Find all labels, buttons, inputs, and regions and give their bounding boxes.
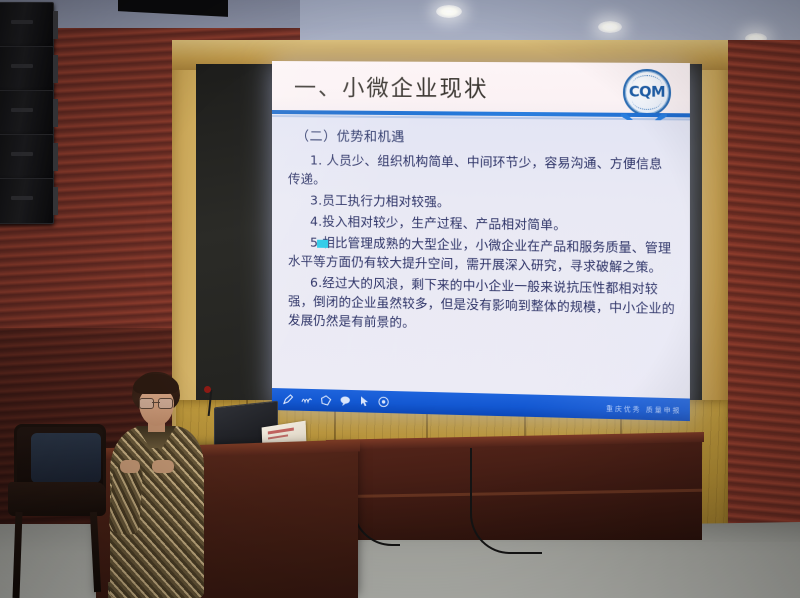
microphone-head-icon: [204, 386, 211, 393]
slide-body: （二）优势和机遇 1. 人员少、组织机构简单、中间环节少，容易沟通、方便信息传递…: [272, 117, 690, 403]
ink-scribble-icon[interactable]: [301, 394, 313, 406]
presenter-hand: [152, 460, 174, 473]
slide-title-band: 一、小微企业现状 CQM: [272, 61, 690, 115]
chair-leg: [90, 512, 101, 592]
slide-paragraph: 6.经过大的风浪，剩下来的中小企业一般来说抗压性都相对较强，倒闭的企业虽然较多，…: [288, 272, 675, 337]
speech-balloon-icon[interactable]: [339, 395, 351, 407]
pointer-arrow-icon[interactable]: [358, 395, 370, 407]
toolbar-icon-group[interactable]: [282, 393, 390, 408]
eyeglasses-icon: [139, 398, 173, 407]
cqm-logo-text: CQM: [625, 84, 669, 101]
line-array-speaker: [0, 46, 54, 92]
line-array-speaker: [0, 178, 54, 224]
presenter-hand: [120, 460, 140, 473]
chair-leg: [13, 512, 23, 598]
presenter-fringe: [133, 374, 179, 394]
chair-cushion: [31, 433, 101, 483]
downlight-icon: [436, 5, 462, 18]
room-photo-scene: 一、小微企业现状 CQM （二）优势和机遇 1. 人员少、组织机构简单、中间环节…: [0, 0, 800, 598]
slide-paragraph: 5.相比管理成熟的大型企业，小微企业在产品和服务质量、管理水平等方面仍有较大提升…: [288, 232, 675, 277]
line-array-speaker: [0, 134, 54, 180]
presenter-arm: [109, 463, 144, 535]
slide-title: 一、小微企业现状: [294, 70, 489, 103]
toolbar-right-text: 重庆优秀 质量申报: [606, 403, 681, 415]
highlighter-shape-icon[interactable]: [320, 394, 332, 406]
pen-icon[interactable]: [282, 393, 294, 405]
wooden-chair: [8, 424, 104, 598]
chair-seat: [8, 482, 106, 516]
slide-paragraph: 3.员工执行力相对较强。: [288, 190, 675, 214]
downlight-icon: [598, 21, 622, 33]
cable: [470, 448, 542, 554]
slide-paragraph: 1. 人员少、组织机构简单、中间环节少，容易沟通、方便信息传递。: [288, 150, 675, 193]
cqm-logo-icon: CQM: [623, 69, 671, 116]
line-array-speaker: [0, 2, 54, 48]
laser-circle-icon[interactable]: [378, 396, 390, 408]
cursor-highlight: [317, 240, 328, 248]
projected-slide: 一、小微企业现状 CQM （二）优势和机遇 1. 人员少、组织机构简单、中间环节…: [272, 61, 690, 421]
line-array-speaker: [0, 90, 54, 136]
slide-subheading: （二）优势和机遇: [296, 125, 675, 148]
presenter: [108, 372, 204, 598]
